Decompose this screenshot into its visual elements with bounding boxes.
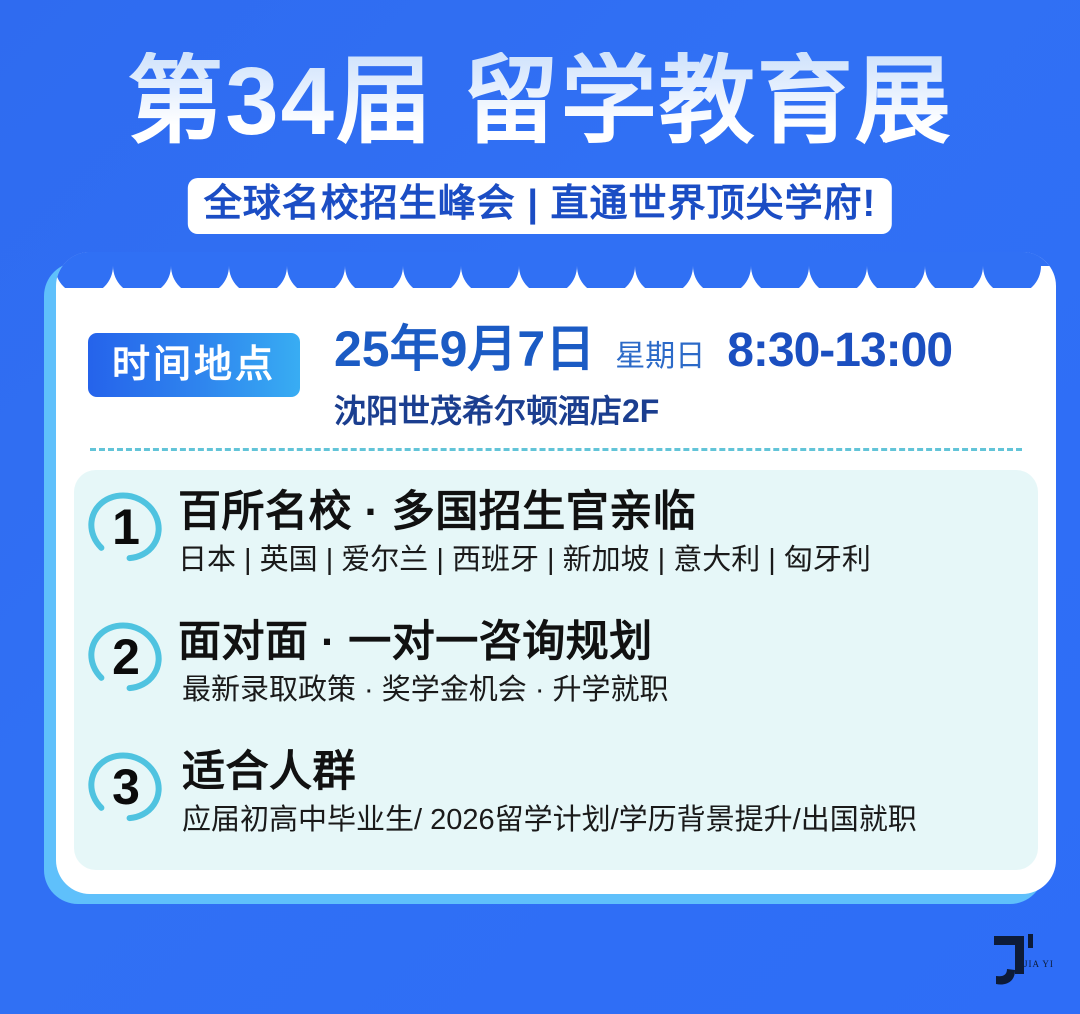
- scalloped-edge-decoration: [56, 252, 1056, 288]
- item-number-badge: 1: [74, 488, 178, 566]
- subtitle-banner: 全球名校招生峰会 | 直通世界顶尖学府!: [188, 178, 892, 234]
- time-place-badge-label: 时间地点: [112, 346, 276, 384]
- item-content: 面对面 · 一对一咨询规划 最新录取政策 · 奖学金机会 · 升学就职: [178, 618, 1038, 708]
- time-place-badge: 时间地点: [88, 333, 300, 397]
- event-datetime-line: 25年9月7日 星期日 8:30-13:00: [334, 324, 1034, 382]
- item-number-badge: 3: [74, 748, 178, 826]
- item-title: 百所名校 · 多国招生官亲临: [178, 488, 1038, 536]
- item-title: 面对面 · 一对一咨询规划: [178, 618, 1038, 666]
- info-card: 时间地点 25年9月7日 星期日 8:30-13:00 沈阳世茂希尔顿酒店2F: [56, 252, 1056, 894]
- item-title: 适合人群: [182, 748, 1038, 796]
- list-item: 3 适合人群 应届初高中毕业生/ 2026留学计划/学历背景提升/出国就职: [74, 748, 1038, 838]
- time-place-section: 时间地点 25年9月7日 星期日 8:30-13:00 沈阳世茂希尔顿酒店2F: [88, 324, 1028, 444]
- subtitle-text: 全球名校招生峰会 | 直通世界顶尖学府!: [204, 183, 876, 227]
- event-venue: 沈阳世茂希尔顿酒店2F: [334, 386, 1034, 432]
- item-number: 1: [88, 492, 164, 562]
- item-number: 3: [88, 752, 164, 822]
- page-title: 第34届 留学教育展: [0, 52, 1080, 153]
- item-subtitle: 日本 | 英国 | 爱尔兰 | 西班牙 | 新加坡 | 意大利 | 匈牙利: [178, 542, 1038, 578]
- item-content: 百所名校 · 多国招生官亲临 日本 | 英国 | 爱尔兰 | 西班牙 | 新加坡…: [178, 488, 1038, 578]
- event-time-range: 8:30-13:00: [727, 327, 952, 375]
- section-divider: [90, 448, 1022, 451]
- item-content: 适合人群 应届初高中毕业生/ 2026留学计划/学历背景提升/出国就职: [178, 748, 1038, 838]
- brand-logo: JIA YI: [982, 930, 1056, 996]
- list-item: 1 百所名校 · 多国招生官亲临 日本 | 英国 | 爱尔兰 | 西班牙 | 新…: [74, 488, 1038, 578]
- highlights-list: 1 百所名校 · 多国招生官亲临 日本 | 英国 | 爱尔兰 | 西班牙 | 新…: [74, 470, 1038, 870]
- item-subtitle: 应届初高中毕业生/ 2026留学计划/学历背景提升/出国就职: [182, 802, 1038, 838]
- poster-header: 第34届 留学教育展 全球名校招生峰会 | 直通世界顶尖学府!: [0, 0, 1080, 250]
- list-item: 2 面对面 · 一对一咨询规划 最新录取政策 · 奖学金机会 · 升学就职: [74, 618, 1038, 708]
- item-number-badge: 2: [74, 618, 178, 696]
- event-date: 25年9月7日: [334, 324, 595, 374]
- logo-wordmark: JIA YI: [1024, 959, 1054, 969]
- poster-root: 第34届 留学教育展 全球名校招生峰会 | 直通世界顶尖学府!: [0, 0, 1080, 1014]
- item-subtitle: 最新录取政策 · 奖学金机会 · 升学就职: [178, 672, 1038, 708]
- time-place-info: 25年9月7日 星期日 8:30-13:00 沈阳世茂希尔顿酒店2F: [334, 324, 1034, 432]
- item-number: 2: [88, 622, 164, 692]
- event-weekday: 星期日: [615, 342, 705, 372]
